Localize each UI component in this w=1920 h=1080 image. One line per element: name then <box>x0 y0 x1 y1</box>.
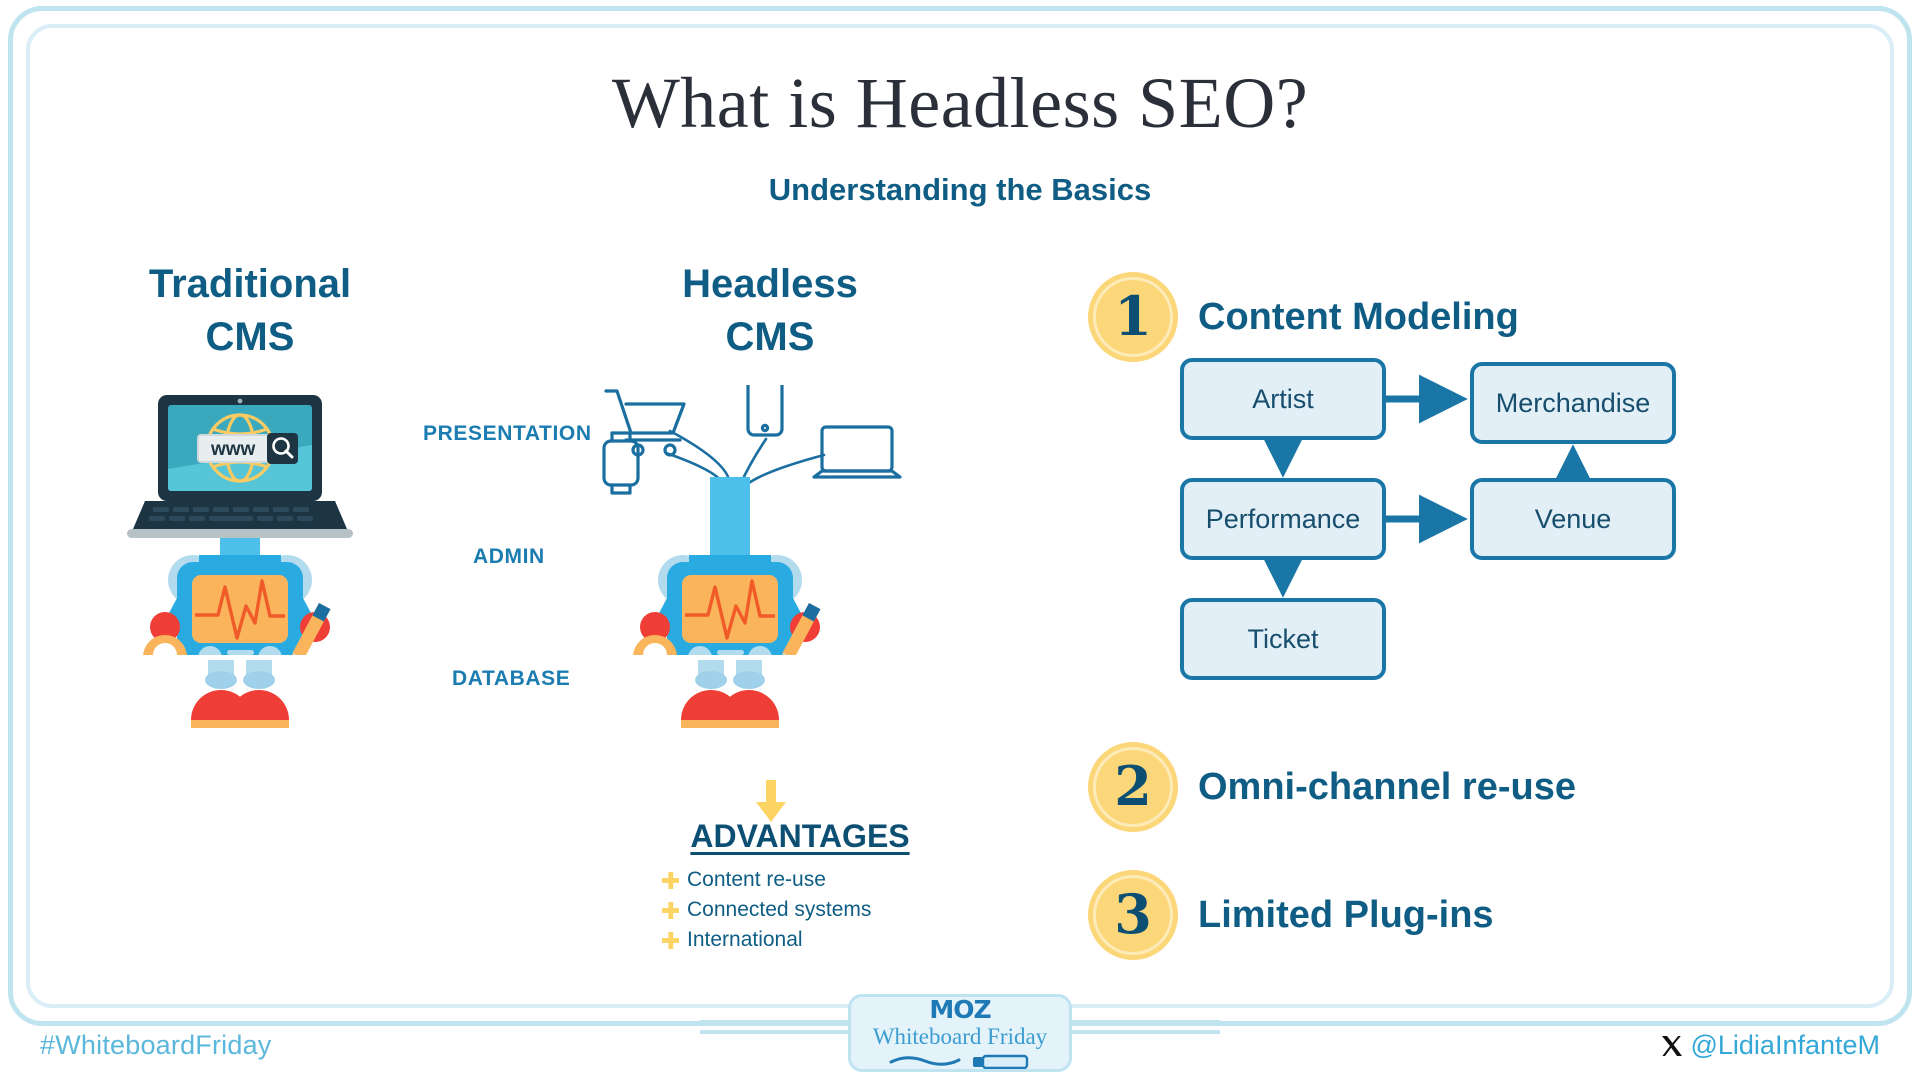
list-item-label: Content re-use <box>687 868 826 892</box>
x-logo-icon <box>1660 1034 1684 1058</box>
content-box-label: Performance <box>1206 504 1361 535</box>
moz-logo-text: MOZ <box>929 997 990 1022</box>
content-box-label: Ticket <box>1247 624 1318 655</box>
step-omni-channel-reuse: 2 Omni-channel re-use <box>1088 742 1576 832</box>
list-item: International <box>662 928 992 952</box>
robot-legs-traditional <box>115 660 365 740</box>
badge-number: 2 <box>1088 742 1178 832</box>
page-title: What is Headless SEO? <box>0 62 1920 145</box>
step-badge-1: 1 <box>1088 272 1178 362</box>
layer-label-database: DATABASE <box>452 667 570 691</box>
content-box-performance[interactable]: Performance <box>1180 478 1386 560</box>
headless-cms-robot-illustration <box>605 395 855 655</box>
plus-icon <box>662 902 679 919</box>
step-badge-2: 2 <box>1088 742 1178 832</box>
column-heading-traditional: Traditional CMS <box>110 258 390 364</box>
moz-rail-right <box>1068 1020 1220 1034</box>
list-item: Content re-use <box>662 868 992 892</box>
footer-handle-text: @LidiaInfanteM <box>1690 1030 1880 1061</box>
advantages-heading: ADVANTAGES <box>600 818 1000 855</box>
content-box-label: Merchandise <box>1496 388 1651 419</box>
content-model-diagram: Artist Merchandise Performance Venue Tic… <box>1180 358 1700 688</box>
rail-line <box>700 1030 852 1034</box>
content-box-venue[interactable]: Venue <box>1470 478 1676 560</box>
step-label-3: Limited Plug-ins <box>1198 894 1494 937</box>
traditional-cms-robot-illustration: www <box>115 395 365 655</box>
column-heading-traditional-line2: CMS <box>110 311 390 364</box>
column-heading-headless-line1: Headless <box>630 258 910 311</box>
footer-social-handle[interactable]: @LidiaInfanteM <box>1660 1030 1880 1061</box>
step-content-modeling: 1 Content Modeling <box>1088 272 1519 362</box>
step-limited-plugins: 3 Limited Plug-ins <box>1088 870 1494 960</box>
list-item-label: International <box>687 928 803 952</box>
list-item-label: Connected systems <box>687 898 871 922</box>
layer-label-admin: ADMIN <box>473 545 545 569</box>
moz-rail-left <box>700 1020 852 1034</box>
plus-icon <box>662 932 679 949</box>
rail-line <box>1068 1030 1220 1034</box>
advantages-list: Content re-use Connected systems Interna… <box>662 868 992 958</box>
column-heading-traditional-line1: Traditional <box>110 258 390 311</box>
content-box-artist[interactable]: Artist <box>1180 358 1386 440</box>
page-subtitle: Understanding the Basics <box>0 172 1920 208</box>
step-label-1: Content Modeling <box>1198 296 1519 339</box>
laptop-url-text: www <box>210 439 256 460</box>
content-box-ticket[interactable]: Ticket <box>1180 598 1386 680</box>
laptop-head-icon: www <box>127 395 353 538</box>
marker-pen-icon <box>885 1053 1035 1069</box>
rail-line <box>700 1020 852 1024</box>
robot-legs-headless <box>605 660 855 740</box>
list-item: Connected systems <box>662 898 992 922</box>
footer-hashtag: #WhiteboardFriday <box>40 1030 272 1061</box>
whiteboard-slide: What is Headless SEO? Understanding the … <box>0 0 1920 1080</box>
moz-badge-subtitle: Whiteboard Friday <box>873 1023 1047 1051</box>
column-heading-headless-line2: CMS <box>630 311 910 364</box>
step-badge-3: 3 <box>1088 870 1178 960</box>
down-arrow-icon <box>756 780 786 822</box>
badge-number: 3 <box>1088 870 1178 960</box>
content-box-label: Artist <box>1252 384 1314 415</box>
rail-line <box>1068 1020 1220 1024</box>
column-heading-headless: Headless CMS <box>630 258 910 364</box>
robot-svg-traditional: www <box>115 395 365 655</box>
content-box-merchandise[interactable]: Merchandise <box>1470 362 1676 444</box>
content-box-label: Venue <box>1535 504 1612 535</box>
badge-number: 1 <box>1088 272 1178 362</box>
step-label-2: Omni-channel re-use <box>1198 766 1576 809</box>
plus-icon <box>662 872 679 889</box>
robot-svg-headless <box>605 395 855 655</box>
moz-whiteboard-friday-badge: MOZ Whiteboard Friday <box>848 994 1072 1072</box>
layer-label-presentation: PRESENTATION <box>423 422 592 446</box>
